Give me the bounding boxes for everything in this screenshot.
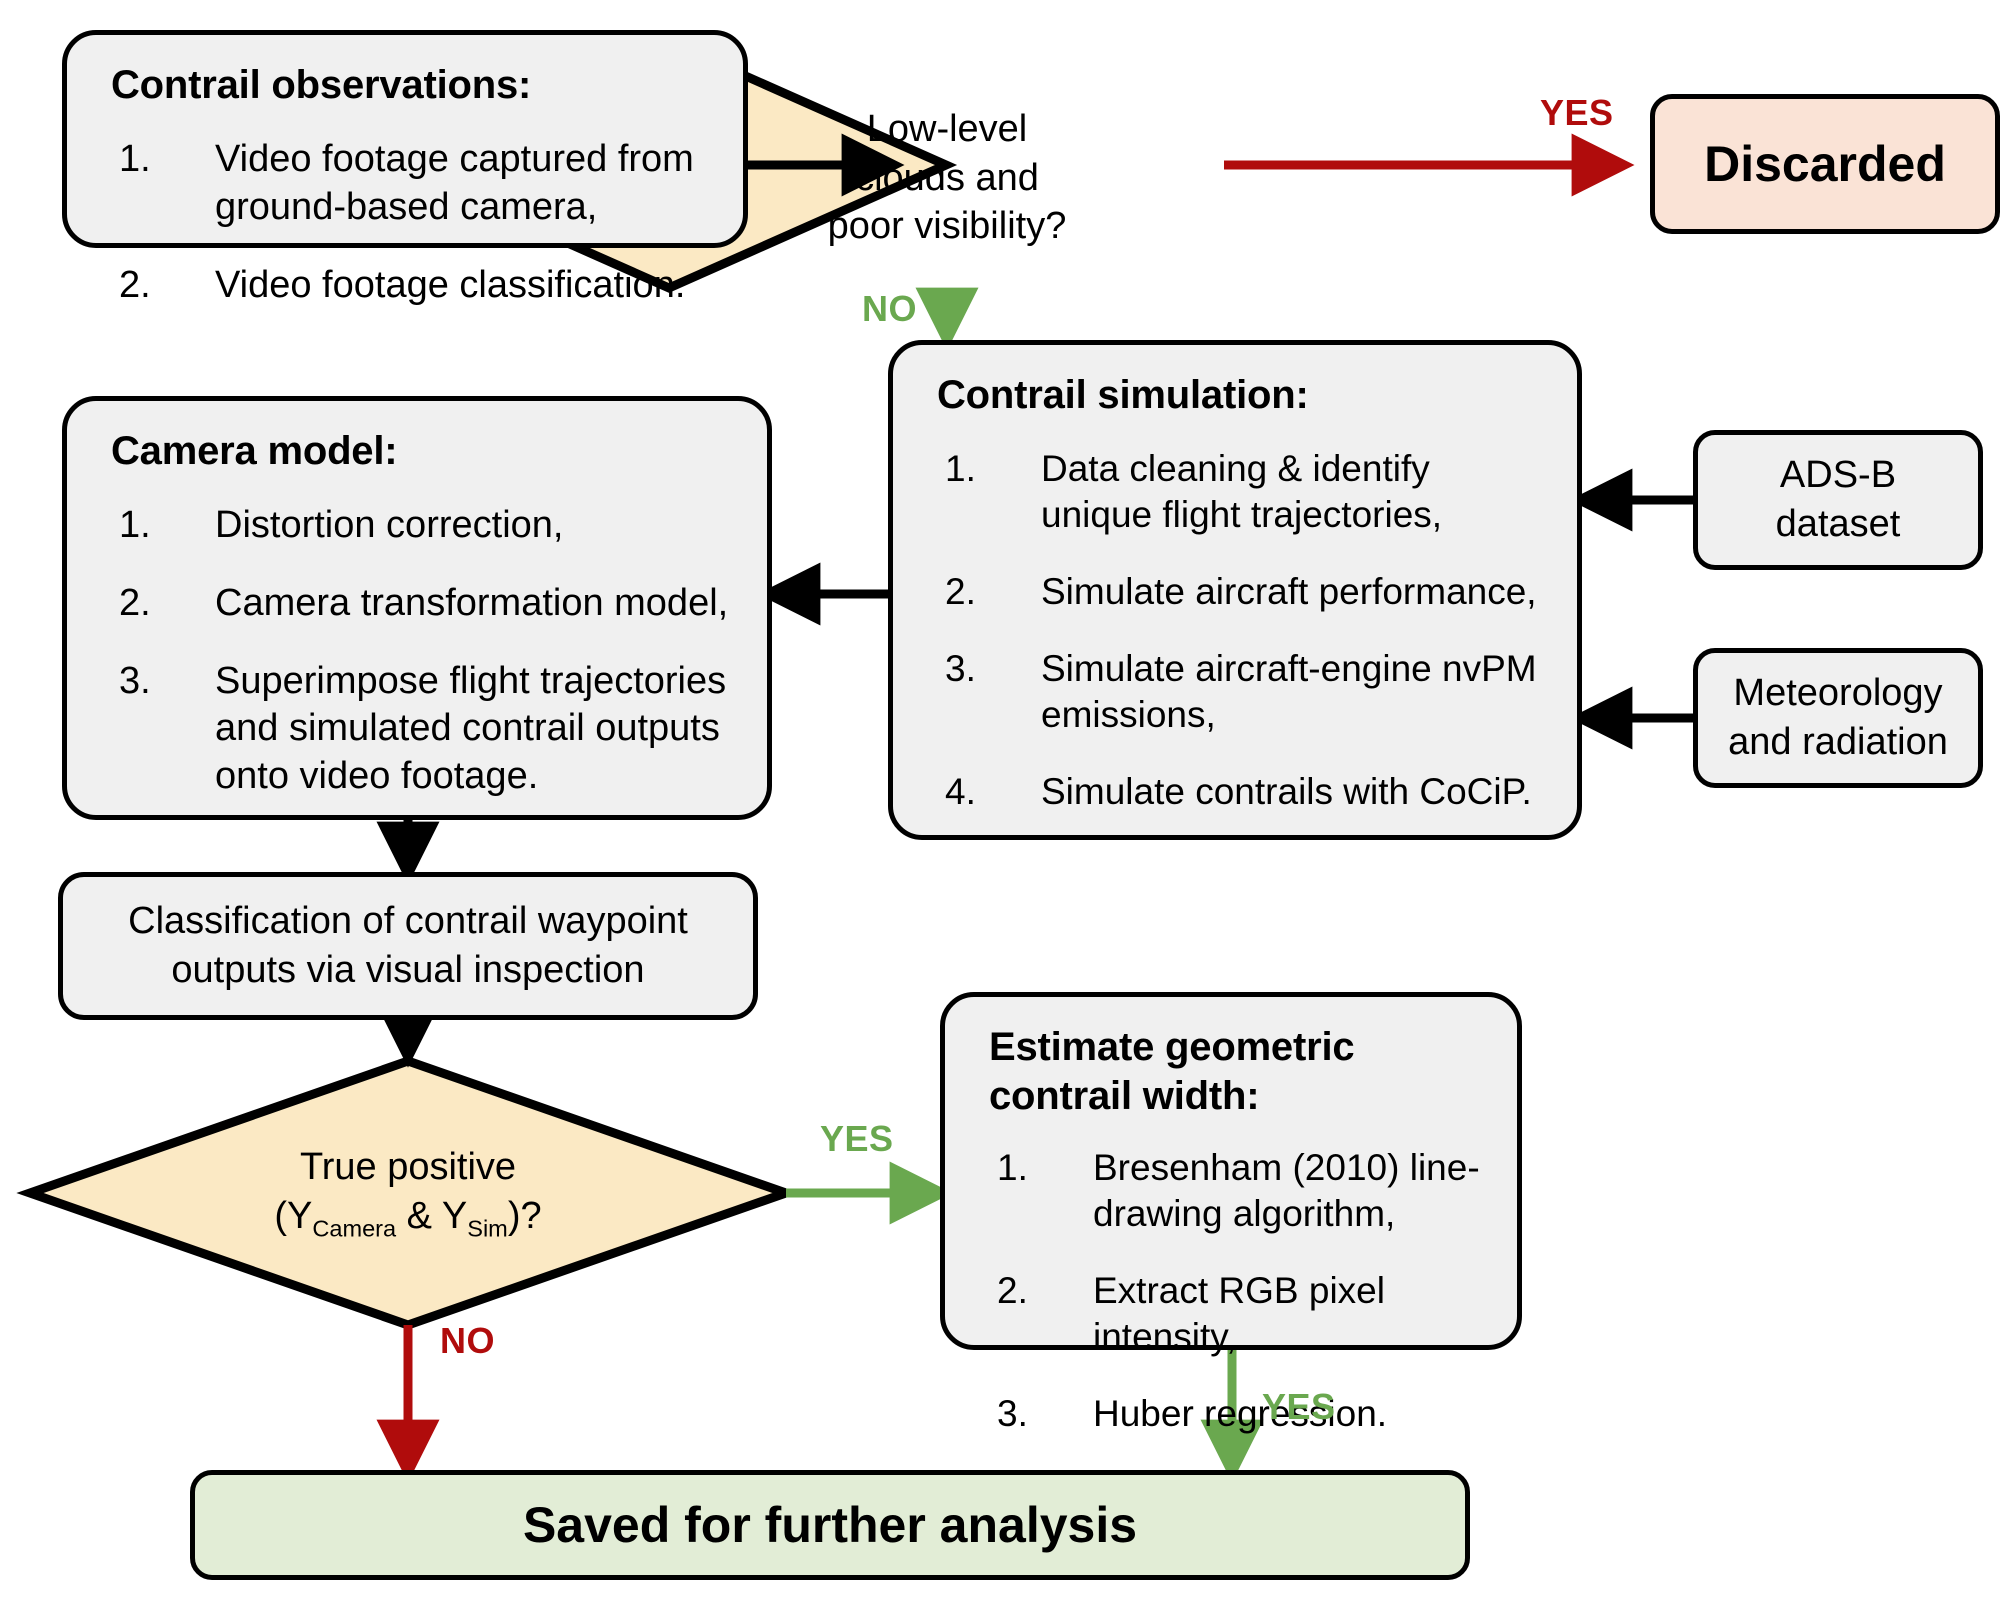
- adsb-line-2: dataset: [1776, 500, 1901, 549]
- camera-model-title: Camera model:: [111, 427, 737, 476]
- list-item-text: Simulate contrails with CoCiP.: [1041, 771, 1532, 812]
- decision-line-3: poor visibility?: [758, 202, 1136, 251]
- list-item: 2. Camera transformation model,: [111, 580, 737, 628]
- true-positive-line-2: (YCamera & YSim)?: [188, 1192, 628, 1244]
- edge-label-decision-no: NO: [862, 288, 917, 330]
- true-positive-middle: & Y: [396, 1195, 467, 1237]
- list-item-number: 2.: [997, 1268, 1067, 1315]
- node-saved-for-further-analysis[interactable]: Saved for further analysis: [190, 1470, 1470, 1580]
- node-contrail-simulation[interactable]: Contrail simulation: 1. Data cleaning & …: [888, 340, 1582, 840]
- decision-true-positive-shape: [30, 1061, 786, 1325]
- list-item: 1. Distortion correction,: [111, 502, 737, 550]
- list-item-text: Camera transformation model,: [215, 582, 728, 624]
- meteorology-line-1: Meteorology: [1728, 669, 1948, 718]
- list-item: 1. Video footage captured from ground-ba…: [111, 136, 713, 232]
- contrail-simulation-title: Contrail simulation:: [937, 371, 1547, 420]
- list-item: 1. Bresenham (2010) line-drawing algorit…: [989, 1145, 1487, 1238]
- flowchart-canvas: Contrail observations: 1. Video footage …: [0, 0, 2011, 1604]
- list-item: 3. Simulate aircraft-engine nvPM emissio…: [937, 646, 1547, 739]
- contrail-observations-title: Contrail observations:: [111, 61, 713, 110]
- list-item-number: 2.: [945, 569, 1015, 616]
- true-positive-sub-camera: Camera: [312, 1215, 396, 1241]
- edge-label-estimate-yes: YES: [1262, 1386, 1336, 1428]
- list-item-number: 1.: [997, 1145, 1067, 1192]
- list-item-number: 2.: [119, 262, 189, 310]
- estimate-width-title: Estimate geometric contrail width:: [989, 1023, 1487, 1121]
- list-item: 2. Video footage classification.: [111, 262, 713, 310]
- list-item-number: 3.: [119, 658, 189, 706]
- classification-label: Classification of contrail waypoint outp…: [63, 877, 753, 1015]
- list-item-number: 3.: [997, 1391, 1067, 1438]
- estimate-width-title-line-2: contrail width:: [989, 1072, 1487, 1121]
- edge-label-true-positive-yes: YES: [820, 1118, 894, 1160]
- meteorology-line-2: and radiation: [1728, 718, 1948, 767]
- decision-low-level-clouds-label[interactable]: Low-level clouds and poor visibility?: [758, 105, 1136, 251]
- edge-label-true-positive-no: NO: [440, 1320, 495, 1362]
- list-item-text: Huber regression.: [1093, 1393, 1387, 1434]
- list-item-number: 1.: [119, 502, 189, 550]
- decision-true-positive-label[interactable]: True positive (YCamera & YSim)?: [188, 1143, 628, 1243]
- list-item-number: 1.: [119, 136, 189, 184]
- contrail-observations-steps: 1. Video footage captured from ground-ba…: [111, 136, 713, 310]
- list-item-text: Simulate aircraft performance,: [1041, 571, 1537, 612]
- node-meteorology-radiation[interactable]: Meteorology and radiation: [1693, 648, 1983, 788]
- camera-model-steps: 1. Distortion correction, 2. Camera tran…: [111, 502, 737, 801]
- list-item-text: Extract RGB pixel intensity,: [1093, 1270, 1385, 1358]
- node-adsb-dataset[interactable]: ADS-B dataset: [1693, 430, 1983, 570]
- estimate-width-steps: 1. Bresenham (2010) line-drawing algorit…: [989, 1145, 1487, 1438]
- list-item: 4. Simulate contrails with CoCiP.: [937, 769, 1547, 816]
- discarded-label: Discarded: [1655, 99, 1995, 229]
- list-item-number: 3.: [945, 646, 1015, 693]
- list-item-text: Simulate aircraft-engine nvPM emissions,: [1041, 648, 1537, 736]
- node-estimate-contrail-width[interactable]: Estimate geometric contrail width: 1. Br…: [940, 992, 1522, 1350]
- list-item: 2. Simulate aircraft performance,: [937, 569, 1547, 616]
- list-item-text: Bresenham (2010) line-drawing algorithm,: [1093, 1147, 1480, 1235]
- list-item: 3. Huber regression.: [989, 1391, 1487, 1438]
- list-item-text: Distortion correction,: [215, 504, 563, 546]
- contrail-simulation-steps: 1. Data cleaning & identify unique fligh…: [937, 446, 1547, 816]
- true-positive-suffix: )?: [508, 1195, 542, 1237]
- meteorology-label: Meteorology and radiation: [1698, 653, 1978, 783]
- list-item-number: 1.: [945, 446, 1015, 493]
- node-discarded[interactable]: Discarded: [1650, 94, 2000, 234]
- list-item-text: Data cleaning & identify unique flight t…: [1041, 448, 1442, 536]
- adsb-line-1: ADS-B: [1776, 451, 1901, 500]
- list-item-number: 2.: [119, 580, 189, 628]
- estimate-width-title-line-1: Estimate geometric: [989, 1023, 1487, 1072]
- adsb-dataset-label: ADS-B dataset: [1698, 435, 1978, 565]
- list-item-number: 4.: [945, 769, 1015, 816]
- classification-line-2: outputs via visual inspection: [128, 946, 688, 995]
- classification-line-1: Classification of contrail waypoint: [128, 897, 688, 946]
- list-item-text: Video footage captured from ground-based…: [215, 138, 694, 228]
- true-positive-sub-sim: Sim: [467, 1215, 508, 1241]
- node-contrail-observations[interactable]: Contrail observations: 1. Video footage …: [62, 30, 748, 248]
- decision-line-2: clouds and: [758, 154, 1136, 203]
- edge-label-decision-yes: YES: [1540, 92, 1614, 134]
- list-item-text: Superimpose flight trajectories and simu…: [215, 660, 726, 798]
- saved-label: Saved for further analysis: [195, 1475, 1465, 1575]
- node-camera-model[interactable]: Camera model: 1. Distortion correction, …: [62, 396, 772, 820]
- true-positive-prefix: (Y: [274, 1195, 312, 1237]
- list-item-text: Video footage classification.: [215, 264, 685, 306]
- list-item: 2. Extract RGB pixel intensity,: [989, 1268, 1487, 1361]
- true-positive-line-1: True positive: [188, 1143, 628, 1192]
- list-item: 1. Data cleaning & identify unique fligh…: [937, 446, 1547, 539]
- list-item: 3. Superimpose flight trajectories and s…: [111, 658, 737, 802]
- node-classification[interactable]: Classification of contrail waypoint outp…: [58, 872, 758, 1020]
- decision-line-1: Low-level: [758, 105, 1136, 154]
